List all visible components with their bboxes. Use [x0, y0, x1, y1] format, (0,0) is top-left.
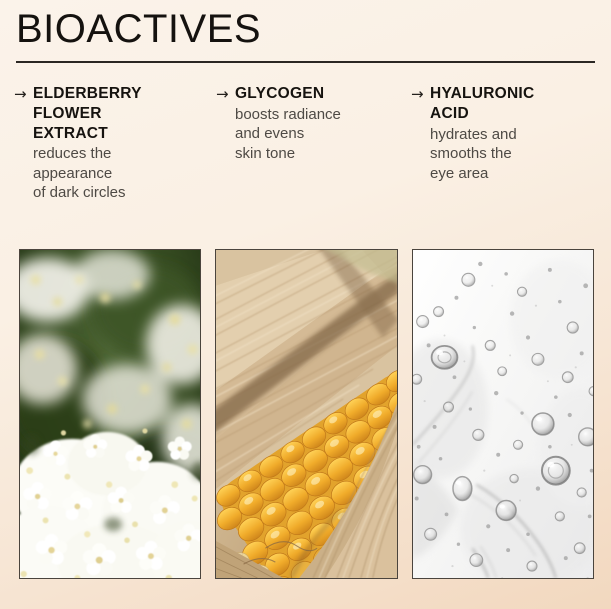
bioactive-item-glycogen: → GLYCOGEN boosts radiance and evens ski…	[205, 84, 401, 203]
elderberry-flower-photo	[20, 250, 200, 578]
ingredient-image-hyaluronic-gel	[412, 249, 594, 579]
bioactive-item-hyaluronic-acid: → HYALURONIC ACID hydrates and smooths t…	[401, 84, 611, 203]
ingredient-image-elderberry	[19, 249, 201, 579]
title-divider	[16, 61, 595, 63]
bioactive-item-elderberry-flower-extract: → ELDERBERRY FLOWER EXTRACT reduces the …	[0, 84, 205, 203]
corn-cob-photo	[216, 250, 396, 578]
bioactive-description: reduces the appearance of dark circles	[33, 144, 205, 203]
page-title: BIOACTIVES	[16, 8, 261, 50]
bioactives-infographic: BIOACTIVES → ELDERBERRY FLOWER EXTRACT r…	[0, 0, 611, 609]
bioactive-name: HYALURONIC ACID	[430, 84, 611, 124]
bioactive-name: ELDERBERRY FLOWER EXTRACT	[33, 84, 205, 143]
bioactives-list: → ELDERBERRY FLOWER EXTRACT reduces the …	[0, 84, 611, 203]
hyaluronic-acid-gel-photo	[413, 250, 593, 578]
ingredient-image-corn	[215, 249, 397, 579]
bioactive-name: GLYCOGEN	[235, 84, 401, 104]
ingredient-image-row	[19, 249, 594, 579]
bioactive-description: boosts radiance and evens skin tone	[235, 105, 401, 164]
arrow-right-icon: →	[411, 87, 424, 102]
arrow-right-icon: →	[14, 87, 27, 102]
bioactive-description: hydrates and smooths the eye area	[430, 125, 611, 184]
arrow-right-icon: →	[216, 87, 229, 102]
